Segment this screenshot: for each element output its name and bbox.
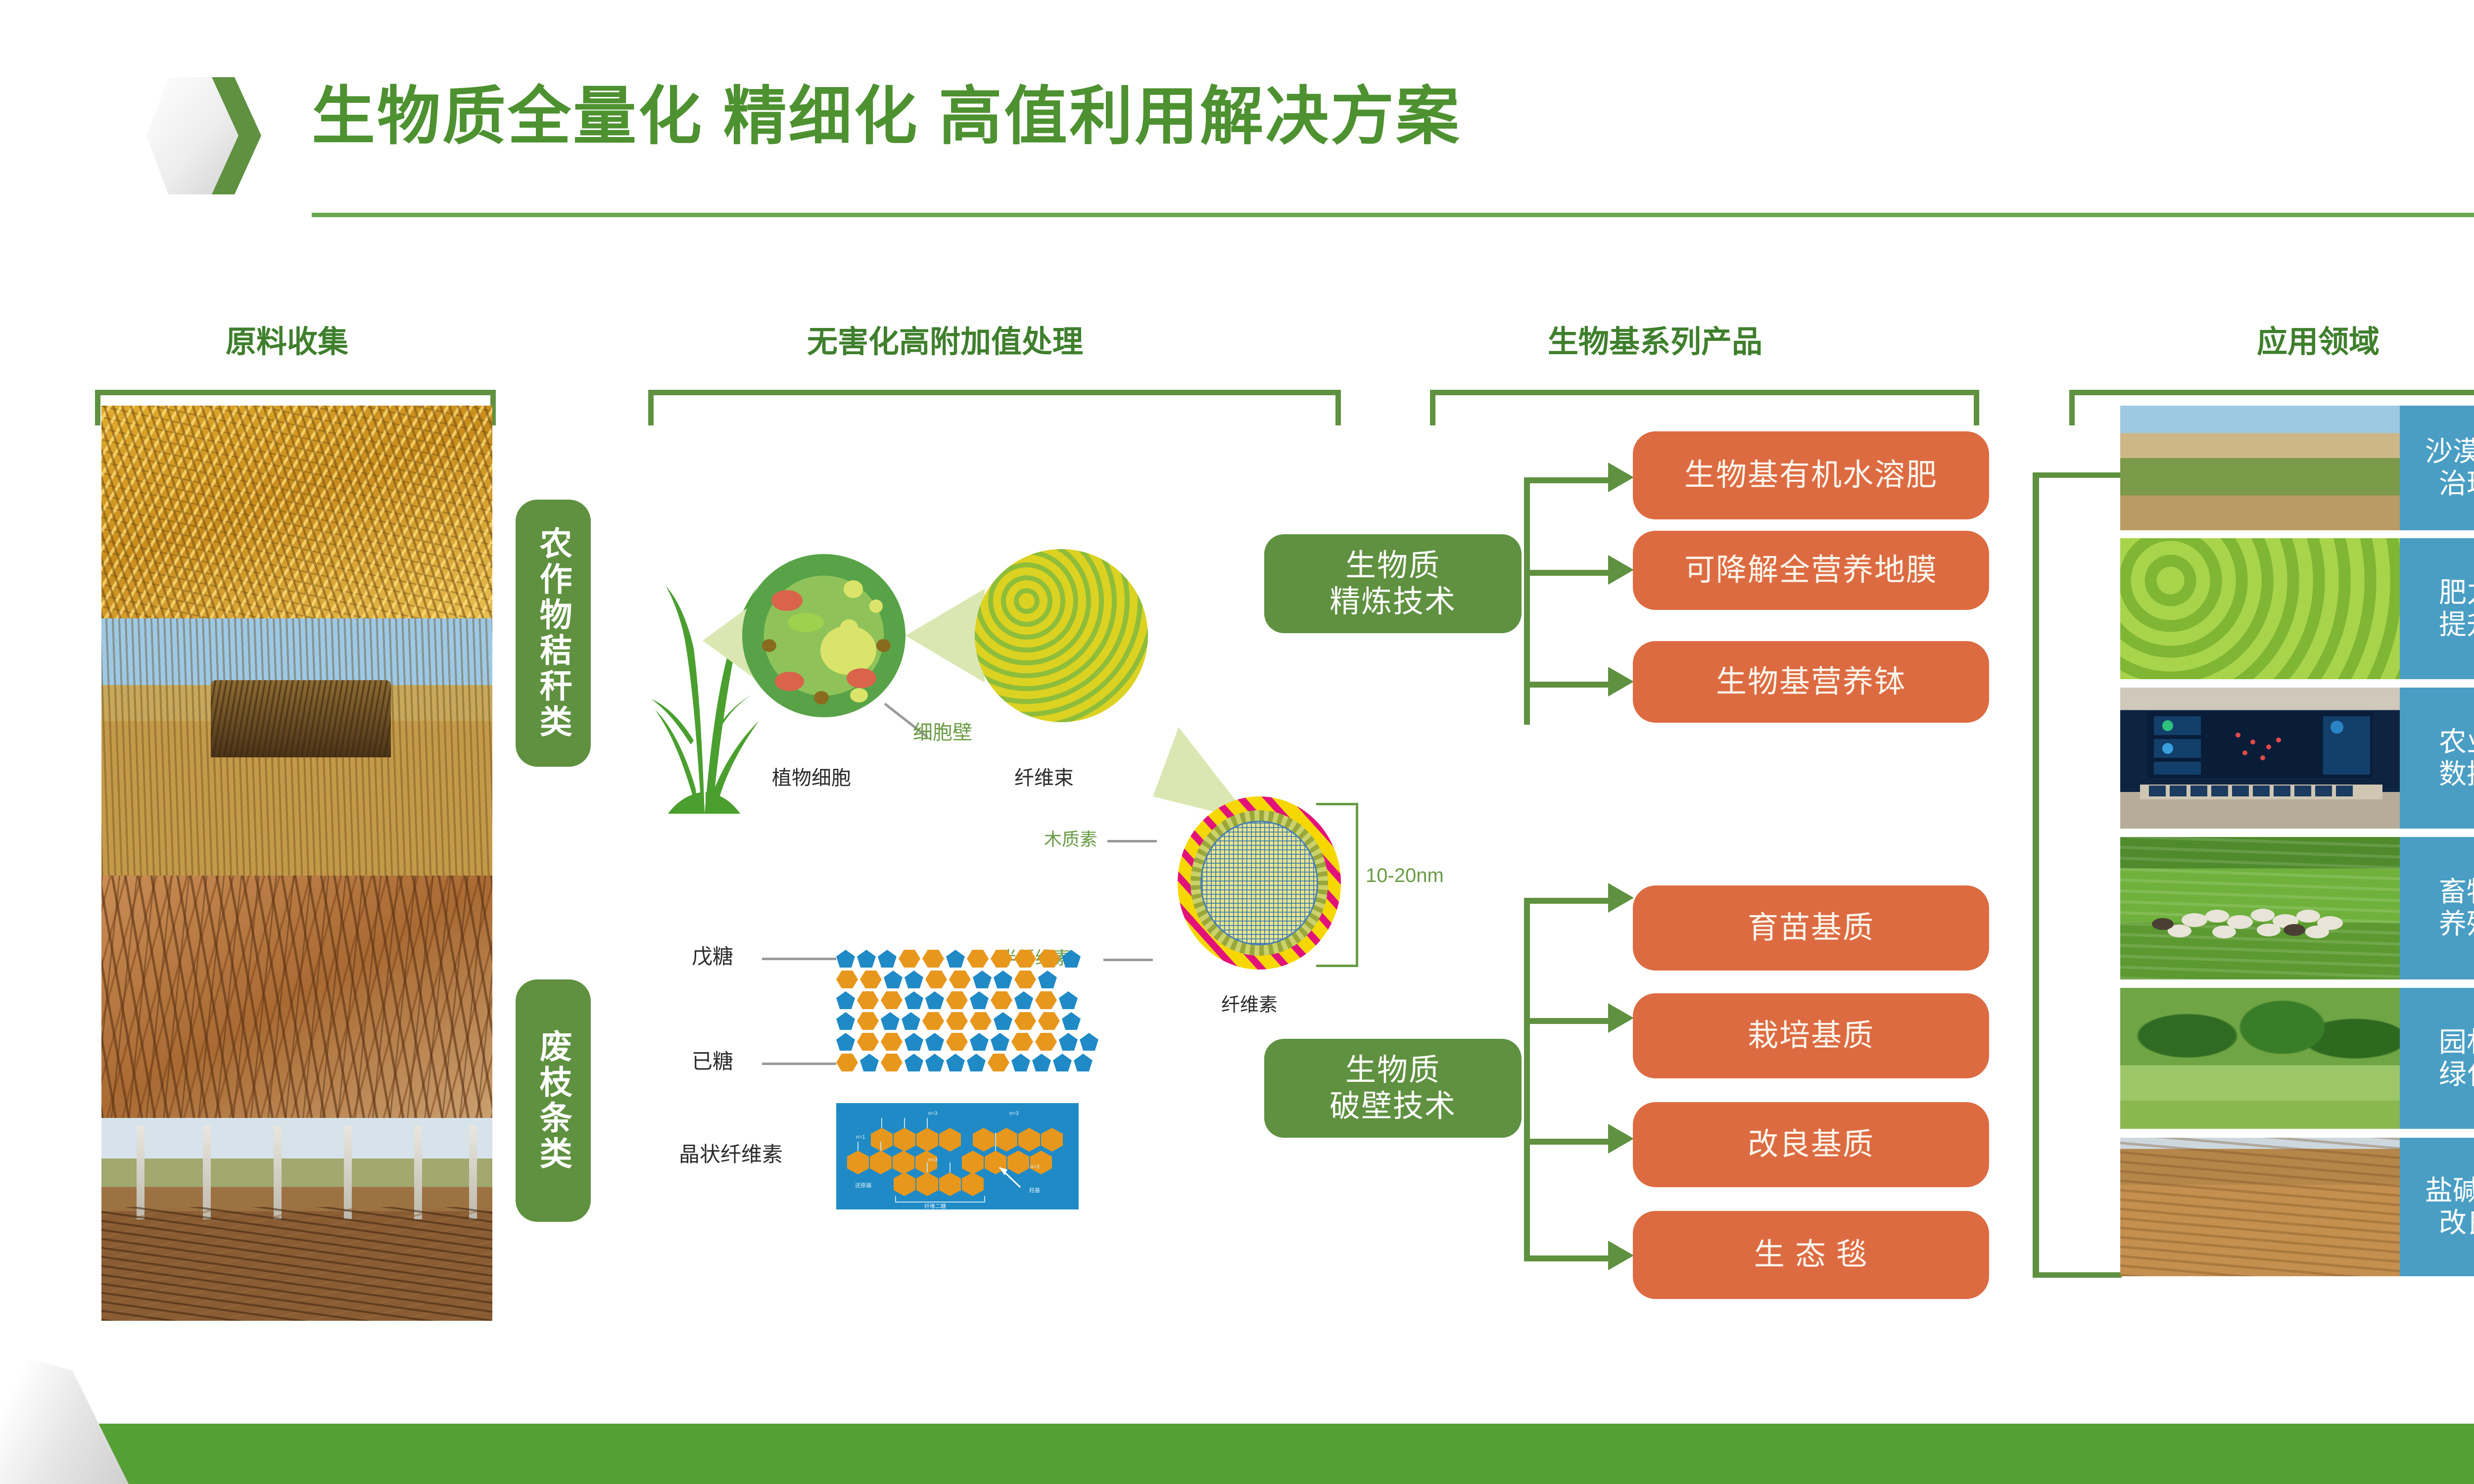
app-caption-desertification: 沙漠化 治理 bbox=[2400, 406, 2474, 530]
hexose-leader-line bbox=[762, 1063, 836, 1065]
app-caption-landscaping-line2: 绿化 bbox=[2439, 1059, 2474, 1091]
application-row-landscaping[interactable]: 园林 绿化 bbox=[2120, 988, 2474, 1129]
arrow-wb-2-icon bbox=[1608, 1003, 1634, 1033]
connector-stub-wb-2 bbox=[1524, 1018, 1613, 1024]
section-header-processing: 无害化高附加值处理 bbox=[727, 317, 1163, 361]
svg-text:还原端: 还原端 bbox=[855, 1182, 871, 1189]
feedstock-label-waste-branches: 废枝条类 bbox=[516, 979, 591, 1222]
app-caption-fertility-line2: 提升 bbox=[2439, 609, 2474, 641]
svg-text:n=3: n=3 bbox=[928, 1157, 938, 1163]
application-row-desertification[interactable]: 沙漠化 治理 bbox=[2120, 406, 2474, 530]
crystalline-cellulose-diagram: n=3n=3 n=1n=3 n=3 还原端羟基 纤维二糖 bbox=[836, 1103, 1079, 1209]
label-cell-wall: 细胞壁 bbox=[913, 716, 972, 745]
app-image-landscape-greening bbox=[2120, 988, 2400, 1129]
connector-stub-wb-1 bbox=[1524, 898, 1613, 904]
photo-vineyard-pruning bbox=[101, 1118, 492, 1321]
infographic-canvas: 生物质全量化 精细化 高值利用解决方案 原料收集 无害化高附加值处理 生物基系列… bbox=[0, 0, 2474, 1484]
photo-baled-straw-field bbox=[101, 618, 492, 876]
app-caption-landscaping-line1: 园林 bbox=[2439, 1026, 2474, 1059]
bracket-application-column bbox=[2033, 472, 2122, 1278]
svg-text:n=3: n=3 bbox=[1030, 1164, 1040, 1170]
app-caption-livestock-line2: 养殖 bbox=[2439, 908, 2474, 940]
lignin-leader-line bbox=[1107, 840, 1157, 842]
plant-cell-diagram bbox=[742, 554, 905, 717]
connector-stub-refining-3 bbox=[1524, 682, 1613, 688]
bracket-products bbox=[1430, 390, 1979, 425]
sugar-matrix-diagram bbox=[836, 950, 1113, 1073]
fiber-cross-section-diagram bbox=[1178, 796, 1341, 970]
app-caption-saline-land: 盐碱地 改良 bbox=[2400, 1138, 2474, 1276]
label-dimension: 10-20nm bbox=[1366, 865, 1444, 887]
app-image-saline-alkali-land bbox=[2120, 1138, 2400, 1276]
section-header-raw-material: 原料收集 bbox=[148, 317, 426, 361]
label-plant-cell: 植物细胞 bbox=[772, 762, 851, 790]
page-title: 生物质全量化 精细化 高值利用解决方案 bbox=[312, 85, 1461, 148]
connector-stub-wb-4 bbox=[1524, 1255, 1613, 1261]
bottom-left-wedge-decoration bbox=[0, 1345, 129, 1484]
arrow-refining-3-icon bbox=[1608, 667, 1634, 696]
app-caption-saline-land-line1: 盐碱地 bbox=[2425, 1175, 2474, 1207]
feedstock-label-crop-straw: 农作物秸秆类 bbox=[516, 500, 591, 767]
label-hexose: 已糖 bbox=[692, 1045, 733, 1075]
app-image-cabbage-field bbox=[2120, 538, 2400, 679]
tech-refining-line1: 生物质 bbox=[1345, 548, 1440, 584]
svg-text:n=3: n=3 bbox=[1009, 1111, 1019, 1116]
app-caption-agri-data: 农业 数据 bbox=[2400, 688, 2474, 829]
hexagon-badge-icon bbox=[138, 75, 261, 196]
product-pill-cultivation-substrate[interactable]: 栽培基质 bbox=[1633, 993, 1989, 1078]
tech-pill-refining[interactable]: 生物质 精炼技术 bbox=[1264, 534, 1522, 633]
app-caption-agri-data-line1: 农业 bbox=[2439, 726, 2474, 758]
app-caption-livestock: 畜牧 养殖 bbox=[2400, 837, 2474, 979]
arrow-wb-3-icon bbox=[1608, 1124, 1634, 1154]
pentose-leader-line bbox=[762, 958, 836, 960]
app-caption-agri-data-line2: 数据 bbox=[2439, 758, 2474, 790]
tech-refining-line2: 精炼技术 bbox=[1330, 584, 1456, 620]
product-pill-ecological-blanket[interactable]: 生 态 毯 bbox=[1633, 1211, 1989, 1299]
application-row-fertility[interactable]: 肥力 提升 bbox=[2120, 538, 2474, 679]
svg-text:n=3: n=3 bbox=[928, 1111, 938, 1116]
tech-wall-breaking-line1: 生物质 bbox=[1345, 1052, 1440, 1088]
application-row-saline-land[interactable]: 盐碱地 改良 bbox=[2120, 1138, 2474, 1276]
app-image-desert-control bbox=[2120, 406, 2400, 530]
arrow-refining-2-icon bbox=[1608, 555, 1634, 585]
dimension-line-vertical bbox=[1356, 803, 1358, 966]
dimension-tick-bottom bbox=[1316, 965, 1358, 967]
connector-stub-wb-3 bbox=[1524, 1139, 1613, 1145]
fiber-bundle-diagram bbox=[975, 549, 1148, 722]
product-pill-improvement-substrate[interactable]: 改良基质 bbox=[1633, 1102, 1989, 1187]
app-image-sheep-pasture bbox=[2120, 837, 2400, 979]
svg-text:纤维二糖: 纤维二糖 bbox=[924, 1203, 946, 1209]
app-caption-fertility-line1: 肥力 bbox=[2439, 577, 2474, 609]
product-pill-degradable-mulch-film[interactable]: 可降解全营养地膜 bbox=[1633, 531, 1989, 610]
product-pill-seedling-substrate[interactable]: 育苗基质 bbox=[1633, 885, 1989, 971]
label-cellulose: 纤维素 bbox=[1221, 989, 1278, 1017]
tech-pill-wall-breaking[interactable]: 生物质 破壁技术 bbox=[1264, 1039, 1522, 1138]
product-pill-nutrient-pot[interactable]: 生物基营养钵 bbox=[1633, 641, 1989, 723]
photo-corn-straw-field bbox=[101, 406, 492, 618]
connector-stub-refining-1 bbox=[1524, 477, 1613, 483]
tech-wall-breaking-line2: 破壁技术 bbox=[1330, 1088, 1456, 1124]
label-lignin: 木质素 bbox=[1044, 825, 1097, 851]
arrow-wb-4-icon bbox=[1608, 1241, 1634, 1270]
svg-text:n=1: n=1 bbox=[856, 1134, 865, 1140]
connector-spine-wall-breaking bbox=[1524, 898, 1530, 1261]
app-caption-livestock-line1: 畜牧 bbox=[2439, 876, 2474, 908]
application-row-agri-data[interactable]: 农业 数据 bbox=[2120, 688, 2474, 829]
app-caption-landscaping: 园林 绿化 bbox=[2400, 988, 2474, 1129]
label-fiber-bundle: 纤维束 bbox=[1014, 762, 1074, 790]
section-header-products: 生物基系列产品 bbox=[1450, 317, 1860, 361]
app-caption-desertification-line1: 沙漠化 bbox=[2425, 436, 2474, 468]
photo-pruned-branches bbox=[101, 876, 492, 1118]
application-row-livestock[interactable]: 畜牧 养殖 bbox=[2120, 837, 2474, 979]
svg-text:羟基: 羟基 bbox=[1029, 1187, 1040, 1194]
app-caption-fertility: 肥力 提升 bbox=[2400, 538, 2474, 679]
label-pentose: 戊糖 bbox=[692, 940, 733, 970]
arrow-refining-1-icon bbox=[1608, 463, 1634, 492]
section-header-applications: 应用领域 bbox=[2113, 317, 2474, 361]
connector-spine-refining bbox=[1524, 477, 1530, 725]
connector-stub-refining-2 bbox=[1524, 570, 1613, 576]
app-image-agri-data-center bbox=[2120, 688, 2400, 829]
label-crystalline-cellulose: 晶状纤维素 bbox=[679, 1138, 783, 1168]
arrow-wb-1-icon bbox=[1608, 883, 1634, 913]
app-caption-saline-land-line2: 改良 bbox=[2439, 1207, 2474, 1239]
product-pill-water-soluble-fertilizer[interactable]: 生物基有机水溶肥 bbox=[1633, 431, 1989, 519]
bracket-processing bbox=[648, 390, 1341, 425]
title-underline bbox=[312, 213, 2474, 217]
bottom-green-bar bbox=[0, 1424, 2474, 1484]
app-caption-desertification-line2: 治理 bbox=[2439, 468, 2474, 500]
zoom-cone-2-icon bbox=[905, 589, 985, 683]
feedstock-photo-column bbox=[101, 406, 492, 1321]
dimension-tick-top bbox=[1316, 803, 1358, 805]
